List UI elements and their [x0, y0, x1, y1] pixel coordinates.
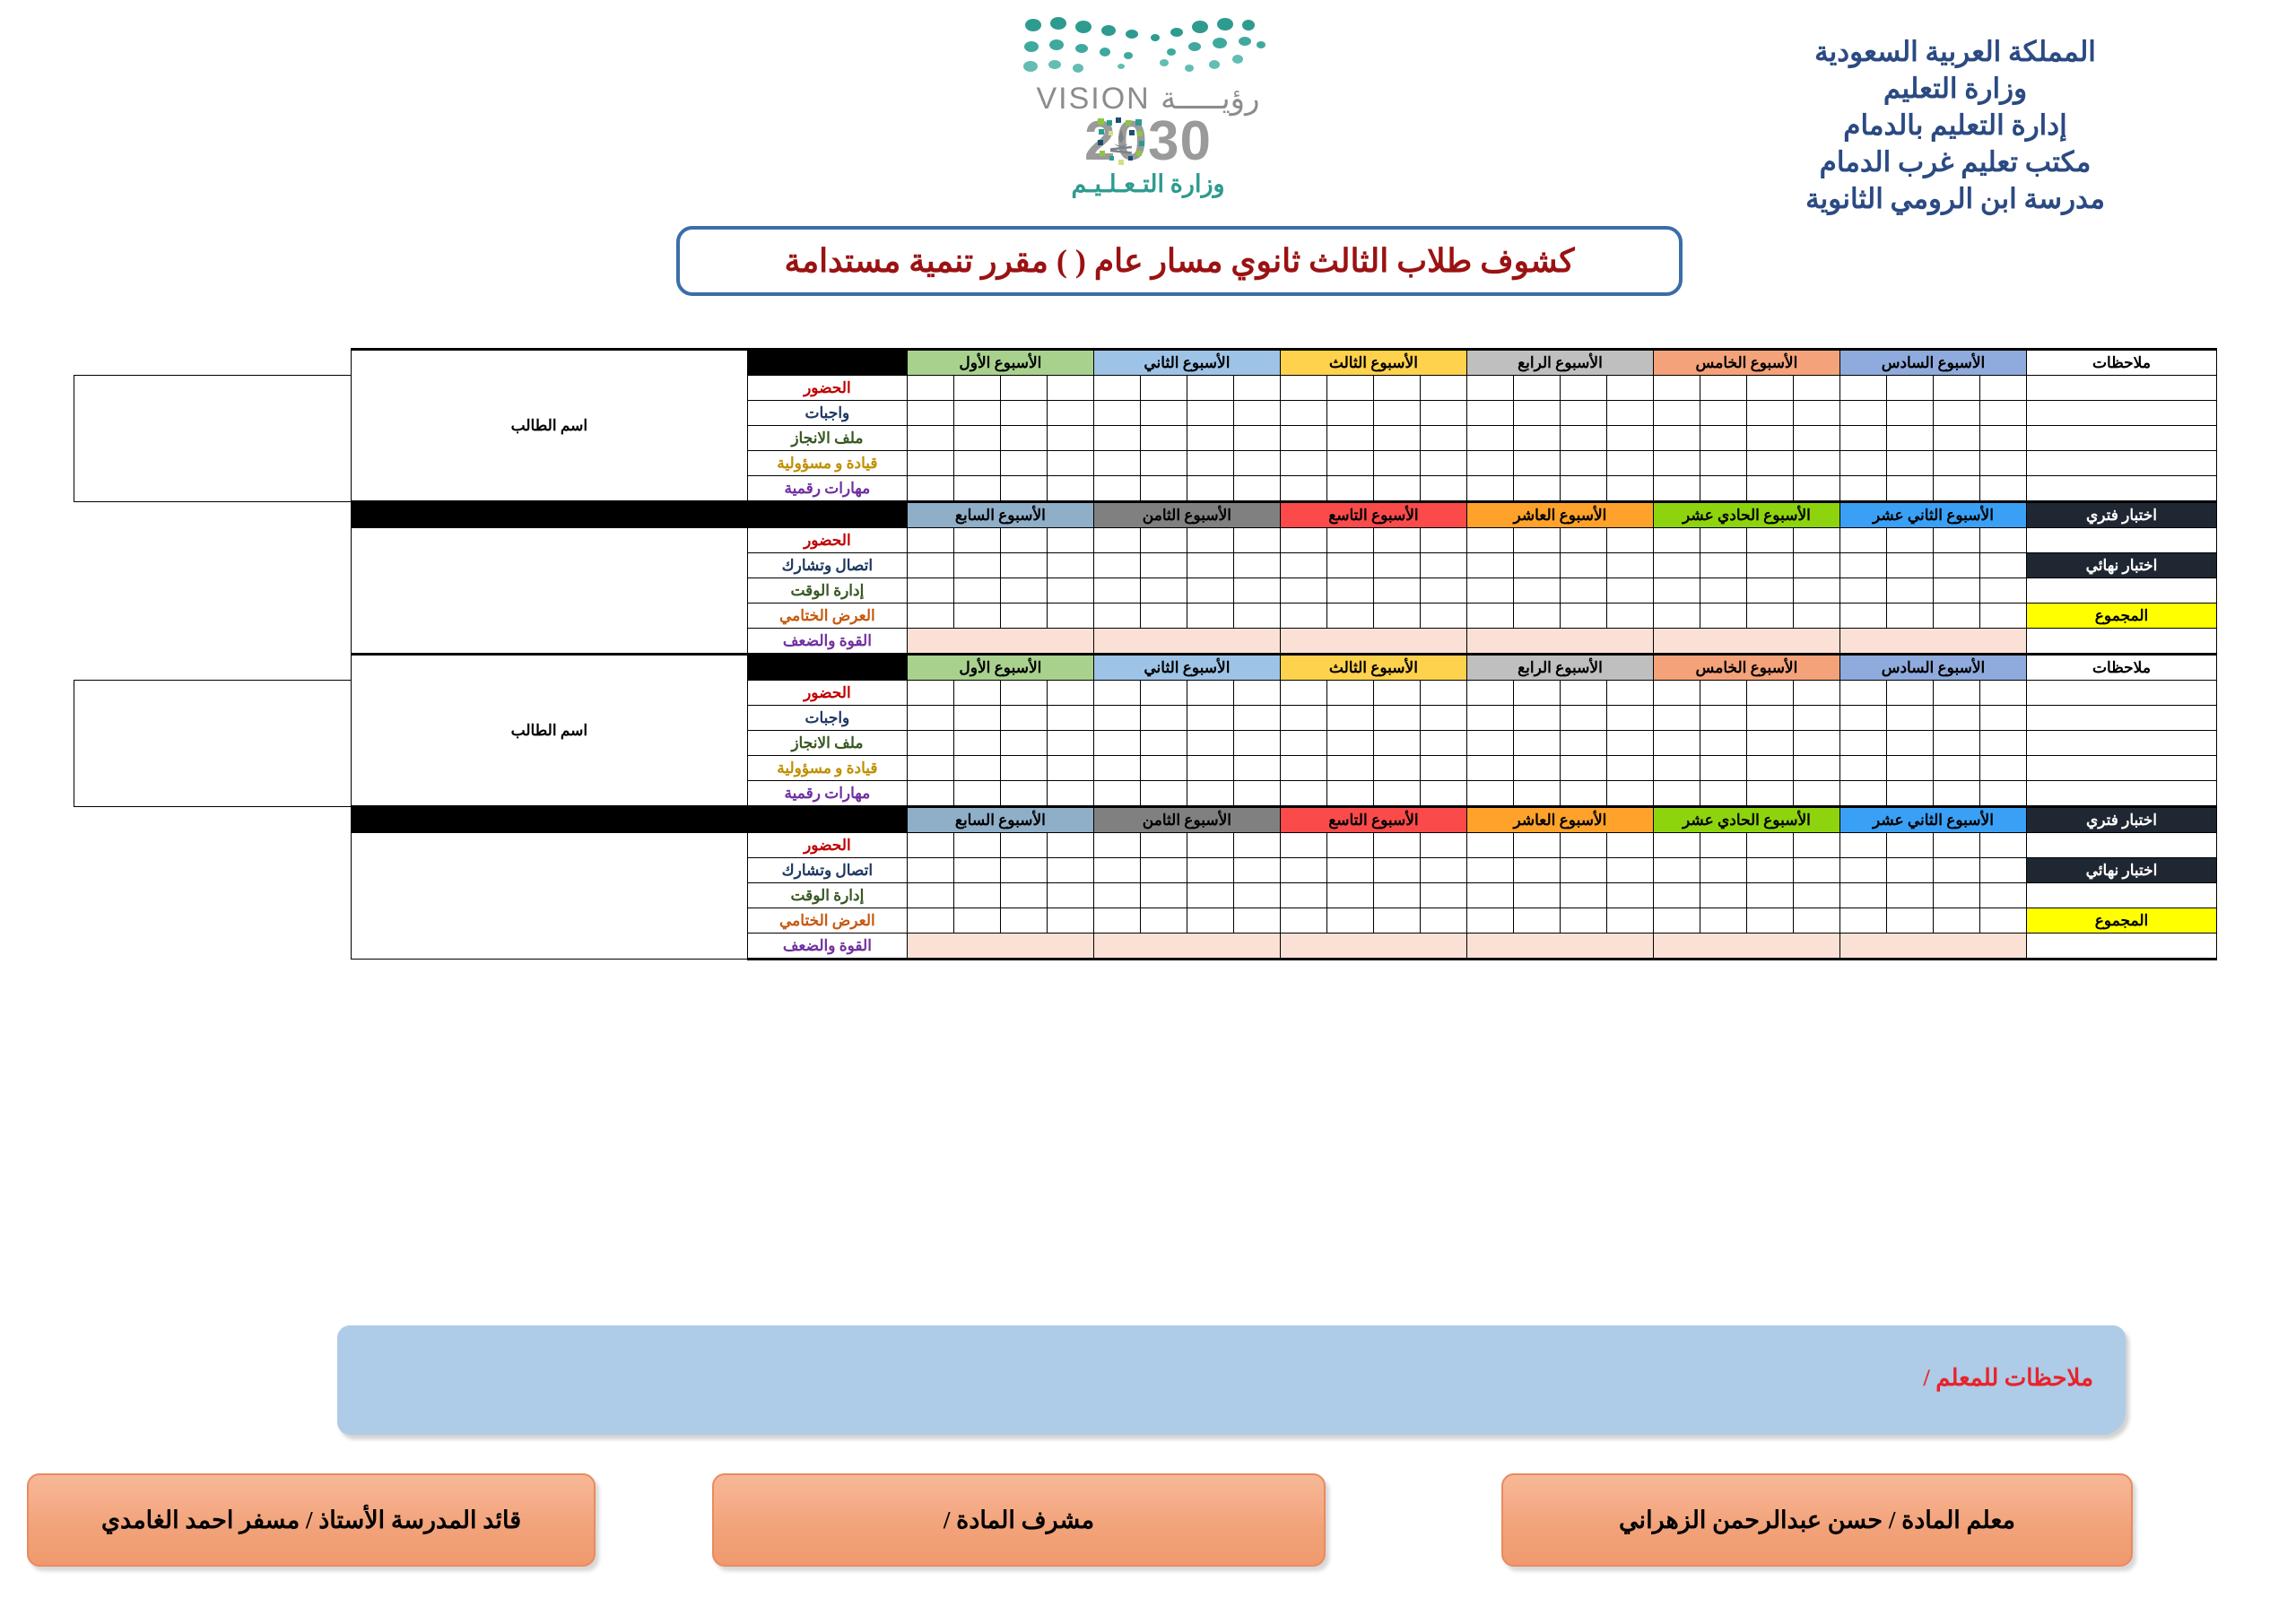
score-cell[interactable] [953, 756, 1000, 781]
score-cell[interactable] [1653, 401, 1700, 426]
score-cell[interactable] [1560, 706, 1606, 731]
score-cell[interactable] [1326, 553, 1373, 578]
score-cell[interactable] [1326, 528, 1373, 553]
score-cell[interactable] [1187, 401, 1233, 426]
score-cell[interactable] [1466, 706, 1513, 731]
score-cell[interactable] [1653, 476, 1700, 502]
score-cell[interactable] [1233, 578, 1280, 604]
score-cell[interactable] [1280, 578, 1326, 604]
score-cell[interactable] [1466, 833, 1513, 858]
score-cell[interactable] [1187, 781, 1233, 807]
score-cell[interactable] [1653, 908, 1700, 934]
score-cell[interactable] [1466, 376, 1513, 401]
score-cell[interactable] [1420, 376, 1466, 401]
score-cell[interactable] [1420, 908, 1466, 934]
score-cell[interactable] [1513, 376, 1560, 401]
score-cell[interactable] [1746, 376, 1793, 401]
score-cell[interactable] [1047, 401, 1093, 426]
score-cell[interactable] [1140, 883, 1187, 908]
score-cell[interactable] [1047, 731, 1093, 756]
score-cell[interactable] [1280, 376, 1326, 401]
score-cell[interactable] [1793, 681, 1839, 706]
score-cell[interactable] [1700, 528, 1746, 553]
score-cell[interactable] [1934, 528, 1980, 553]
score-cell[interactable] [1606, 706, 1653, 731]
score-cell[interactable] [1093, 604, 1140, 629]
score-cell[interactable] [1420, 426, 1466, 451]
score-cell[interactable] [1000, 528, 1047, 553]
score-cell[interactable] [1420, 401, 1466, 426]
score-cell[interactable] [1093, 706, 1140, 731]
score-cell[interactable] [1373, 833, 1420, 858]
score-cell[interactable] [1093, 858, 1140, 883]
score-cell[interactable] [1140, 451, 1187, 476]
score-cell[interactable] [1560, 401, 1606, 426]
score-cell[interactable] [1980, 781, 2027, 807]
score-cell[interactable] [1466, 781, 1513, 807]
score-cell[interactable] [1000, 781, 1047, 807]
score-cell[interactable] [1093, 426, 1140, 451]
score-cell[interactable] [1653, 451, 1700, 476]
score-cell[interactable] [1560, 883, 1606, 908]
score-cell[interactable] [1746, 756, 1793, 781]
score-cell[interactable] [907, 858, 953, 883]
score-cell[interactable] [1140, 578, 1187, 604]
score-cell[interactable] [1233, 858, 1280, 883]
score-cell[interactable] [1700, 756, 1746, 781]
score-cell[interactable] [907, 578, 953, 604]
score-cell[interactable] [1280, 883, 1326, 908]
student-name-cell[interactable] [74, 681, 352, 807]
score-cell[interactable] [1466, 604, 1513, 629]
score-cell[interactable] [1466, 858, 1513, 883]
score-cell[interactable] [1700, 883, 1746, 908]
score-cell[interactable] [1793, 426, 1839, 451]
score-cell[interactable] [1000, 553, 1047, 578]
notes-cell[interactable] [2027, 706, 2217, 731]
score-cell[interactable] [1280, 681, 1326, 706]
score-cell[interactable] [1000, 858, 1047, 883]
score-cell[interactable] [1746, 451, 1793, 476]
score-cell[interactable] [1513, 756, 1560, 781]
score-cell[interactable] [1653, 756, 1700, 781]
score-cell[interactable] [1887, 451, 1934, 476]
score-cell[interactable] [1793, 858, 1839, 883]
score-cell[interactable] [1513, 451, 1560, 476]
score-cell[interactable] [1047, 706, 1093, 731]
score-cell[interactable] [1093, 908, 1140, 934]
final-exam-score-cell[interactable] [2027, 578, 2217, 604]
score-cell[interactable] [1653, 883, 1700, 908]
score-cell[interactable] [1700, 604, 1746, 629]
notes-cell[interactable] [2027, 681, 2217, 706]
score-cell[interactable] [1653, 376, 1700, 401]
score-cell[interactable] [1000, 833, 1047, 858]
score-cell[interactable] [1560, 476, 1606, 502]
strength-weakness-cell[interactable] [1466, 629, 1653, 655]
score-cell[interactable] [1373, 451, 1420, 476]
score-cell[interactable] [1000, 706, 1047, 731]
score-cell[interactable] [953, 833, 1000, 858]
score-cell[interactable] [1934, 401, 1980, 426]
score-cell[interactable] [1000, 681, 1047, 706]
final-exam-score-cell[interactable] [2027, 883, 2217, 908]
score-cell[interactable] [1513, 681, 1560, 706]
score-cell[interactable] [1887, 731, 1934, 756]
score-cell[interactable] [1140, 476, 1187, 502]
score-cell[interactable] [1746, 553, 1793, 578]
score-cell[interactable] [1606, 426, 1653, 451]
score-cell[interactable] [1373, 756, 1420, 781]
score-cell[interactable] [907, 756, 953, 781]
score-cell[interactable] [1420, 451, 1466, 476]
score-cell[interactable] [1513, 858, 1560, 883]
score-cell[interactable] [1233, 528, 1280, 553]
score-cell[interactable] [1047, 451, 1093, 476]
score-cell[interactable] [1280, 731, 1326, 756]
score-cell[interactable] [1700, 401, 1746, 426]
score-cell[interactable] [1513, 476, 1560, 502]
score-cell[interactable] [1653, 731, 1700, 756]
score-cell[interactable] [1047, 376, 1093, 401]
score-cell[interactable] [1093, 781, 1140, 807]
score-cell[interactable] [1746, 706, 1793, 731]
score-cell[interactable] [1326, 476, 1373, 502]
score-cell[interactable] [1606, 451, 1653, 476]
score-cell[interactable] [907, 401, 953, 426]
score-cell[interactable] [1746, 883, 1793, 908]
score-cell[interactable] [1980, 578, 2027, 604]
score-cell[interactable] [1700, 731, 1746, 756]
score-cell[interactable] [1187, 604, 1233, 629]
score-cell[interactable] [1373, 426, 1420, 451]
score-cell[interactable] [1093, 756, 1140, 781]
score-cell[interactable] [1887, 528, 1934, 553]
score-cell[interactable] [953, 578, 1000, 604]
score-cell[interactable] [1793, 833, 1839, 858]
score-cell[interactable] [1187, 376, 1233, 401]
score-cell[interactable] [1326, 376, 1373, 401]
score-cell[interactable] [1420, 781, 1466, 807]
strength-weakness-cell[interactable] [1653, 629, 1839, 655]
score-cell[interactable] [1187, 756, 1233, 781]
score-cell[interactable] [1280, 858, 1326, 883]
score-cell[interactable] [1560, 604, 1606, 629]
score-cell[interactable] [1466, 681, 1513, 706]
score-cell[interactable] [1746, 476, 1793, 502]
strength-weakness-cell[interactable] [907, 934, 1093, 960]
score-cell[interactable] [907, 883, 953, 908]
score-cell[interactable] [1746, 781, 1793, 807]
score-cell[interactable] [1140, 908, 1187, 934]
score-cell[interactable] [1280, 528, 1326, 553]
score-cell[interactable] [1793, 553, 1839, 578]
score-cell[interactable] [1606, 731, 1653, 756]
score-cell[interactable] [1887, 756, 1934, 781]
score-cell[interactable] [1606, 833, 1653, 858]
score-cell[interactable] [1233, 604, 1280, 629]
score-cell[interactable] [907, 376, 953, 401]
score-cell[interactable] [1233, 451, 1280, 476]
score-cell[interactable] [953, 553, 1000, 578]
score-cell[interactable] [1746, 604, 1793, 629]
score-cell[interactable] [1420, 476, 1466, 502]
score-cell[interactable] [1934, 376, 1980, 401]
score-cell[interactable] [953, 604, 1000, 629]
score-cell[interactable] [1000, 426, 1047, 451]
score-cell[interactable] [1606, 858, 1653, 883]
score-cell[interactable] [1326, 858, 1373, 883]
score-cell[interactable] [1326, 604, 1373, 629]
score-cell[interactable] [1280, 706, 1326, 731]
score-cell[interactable] [1746, 528, 1793, 553]
notes-cell[interactable] [2027, 731, 2217, 756]
score-cell[interactable] [953, 858, 1000, 883]
score-cell[interactable] [1373, 681, 1420, 706]
score-cell[interactable] [1980, 681, 2027, 706]
score-cell[interactable] [1093, 376, 1140, 401]
notes-cell[interactable] [2027, 401, 2217, 426]
score-cell[interactable] [953, 528, 1000, 553]
score-cell[interactable] [1746, 401, 1793, 426]
score-cell[interactable] [1887, 604, 1934, 629]
score-cell[interactable] [1420, 706, 1466, 731]
strength-weakness-cell[interactable] [1653, 934, 1839, 960]
student-name-cell-bottom[interactable] [351, 528, 747, 655]
score-cell[interactable] [1047, 908, 1093, 934]
score-cell[interactable] [1887, 908, 1934, 934]
score-cell[interactable] [1047, 833, 1093, 858]
score-cell[interactable] [953, 883, 1000, 908]
score-cell[interactable] [953, 401, 1000, 426]
score-cell[interactable] [1187, 578, 1233, 604]
score-cell[interactable] [1980, 476, 2027, 502]
score-cell[interactable] [1934, 426, 1980, 451]
score-cell[interactable] [1233, 908, 1280, 934]
student-name-cell-bottom[interactable] [351, 833, 747, 960]
score-cell[interactable] [1420, 883, 1466, 908]
score-cell[interactable] [1934, 706, 1980, 731]
score-cell[interactable] [1373, 781, 1420, 807]
score-cell[interactable] [953, 376, 1000, 401]
score-cell[interactable] [1560, 908, 1606, 934]
score-cell[interactable] [1560, 756, 1606, 781]
notes-cell[interactable] [2027, 781, 2217, 807]
strength-weakness-cell[interactable] [1093, 629, 1280, 655]
score-cell[interactable] [953, 451, 1000, 476]
score-cell[interactable] [953, 731, 1000, 756]
score-cell[interactable] [1793, 476, 1839, 502]
score-cell[interactable] [1606, 681, 1653, 706]
score-cell[interactable] [1793, 578, 1839, 604]
score-cell[interactable] [1047, 553, 1093, 578]
score-cell[interactable] [1980, 401, 2027, 426]
score-cell[interactable] [1513, 908, 1560, 934]
score-cell[interactable] [1047, 476, 1093, 502]
score-cell[interactable] [1420, 833, 1466, 858]
score-cell[interactable] [1887, 553, 1934, 578]
strength-weakness-cell[interactable] [1839, 934, 2026, 960]
score-cell[interactable] [1000, 476, 1047, 502]
score-cell[interactable] [1606, 908, 1653, 934]
score-cell[interactable] [1887, 883, 1934, 908]
score-cell[interactable] [1793, 908, 1839, 934]
score-cell[interactable] [1140, 756, 1187, 781]
score-cell[interactable] [1700, 781, 1746, 807]
score-cell[interactable] [1047, 756, 1093, 781]
score-cell[interactable] [1373, 858, 1420, 883]
score-cell[interactable] [1093, 731, 1140, 756]
score-cell[interactable] [1093, 553, 1140, 578]
score-cell[interactable] [1233, 476, 1280, 502]
score-cell[interactable] [1326, 681, 1373, 706]
score-cell[interactable] [1466, 401, 1513, 426]
score-cell[interactable] [1420, 858, 1466, 883]
score-cell[interactable] [1513, 781, 1560, 807]
score-cell[interactable] [1653, 553, 1700, 578]
score-cell[interactable] [1000, 604, 1047, 629]
score-cell[interactable] [1233, 681, 1280, 706]
score-cell[interactable] [1513, 883, 1560, 908]
score-cell[interactable] [1187, 451, 1233, 476]
periodic-exam-score-cell[interactable] [2027, 833, 2217, 858]
strength-weakness-cell[interactable] [1280, 629, 1466, 655]
score-cell[interactable] [1093, 528, 1140, 553]
score-cell[interactable] [1839, 883, 1886, 908]
score-cell[interactable] [1466, 883, 1513, 908]
score-cell[interactable] [1793, 528, 1839, 553]
score-cell[interactable] [1839, 578, 1886, 604]
score-cell[interactable] [1700, 706, 1746, 731]
score-cell[interactable] [1093, 451, 1140, 476]
score-cell[interactable] [1839, 908, 1886, 934]
score-cell[interactable] [1980, 756, 2027, 781]
score-cell[interactable] [1093, 401, 1140, 426]
score-cell[interactable] [1187, 908, 1233, 934]
score-cell[interactable] [1000, 401, 1047, 426]
score-cell[interactable] [1980, 833, 2027, 858]
score-cell[interactable] [1326, 578, 1373, 604]
score-cell[interactable] [1839, 451, 1886, 476]
score-cell[interactable] [1746, 426, 1793, 451]
score-cell[interactable] [907, 451, 953, 476]
score-cell[interactable] [1373, 578, 1420, 604]
score-cell[interactable] [1560, 833, 1606, 858]
score-cell[interactable] [1373, 476, 1420, 502]
score-cell[interactable] [1466, 578, 1513, 604]
score-cell[interactable] [1326, 908, 1373, 934]
score-cell[interactable] [1280, 833, 1326, 858]
score-cell[interactable] [1047, 681, 1093, 706]
score-cell[interactable] [1980, 553, 2027, 578]
score-cell[interactable] [1653, 781, 1700, 807]
score-cell[interactable] [1513, 833, 1560, 858]
score-cell[interactable] [1093, 681, 1140, 706]
score-cell[interactable] [1373, 604, 1420, 629]
score-cell[interactable] [1653, 706, 1700, 731]
score-cell[interactable] [1280, 908, 1326, 934]
score-cell[interactable] [1000, 731, 1047, 756]
score-cell[interactable] [1233, 401, 1280, 426]
score-cell[interactable] [907, 528, 953, 553]
score-cell[interactable] [1466, 908, 1513, 934]
score-cell[interactable] [1047, 604, 1093, 629]
score-cell[interactable] [1047, 781, 1093, 807]
score-cell[interactable] [1934, 858, 1980, 883]
score-cell[interactable] [1513, 401, 1560, 426]
score-cell[interactable] [1187, 883, 1233, 908]
score-cell[interactable] [1887, 781, 1934, 807]
score-cell[interactable] [1793, 376, 1839, 401]
score-cell[interactable] [1700, 578, 1746, 604]
score-cell[interactable] [1373, 553, 1420, 578]
score-cell[interactable] [1606, 376, 1653, 401]
notes-cell[interactable] [2027, 426, 2217, 451]
score-cell[interactable] [1233, 756, 1280, 781]
score-cell[interactable] [1233, 706, 1280, 731]
score-cell[interactable] [907, 476, 953, 502]
score-cell[interactable] [1187, 833, 1233, 858]
score-cell[interactable] [1280, 401, 1326, 426]
score-cell[interactable] [1233, 833, 1280, 858]
score-cell[interactable] [1280, 604, 1326, 629]
teacher-notes-box[interactable]: ملاحظات للمعلم / [337, 1325, 2126, 1435]
score-cell[interactable] [1934, 731, 1980, 756]
score-cell[interactable] [1887, 858, 1934, 883]
score-cell[interactable] [1980, 858, 2027, 883]
score-cell[interactable] [1187, 858, 1233, 883]
score-cell[interactable] [1373, 883, 1420, 908]
score-cell[interactable] [953, 681, 1000, 706]
strength-weakness-cell[interactable] [1280, 934, 1466, 960]
score-cell[interactable] [1653, 578, 1700, 604]
score-cell[interactable] [1839, 681, 1886, 706]
score-cell[interactable] [1746, 578, 1793, 604]
score-cell[interactable] [1934, 476, 1980, 502]
score-cell[interactable] [1560, 451, 1606, 476]
score-cell[interactable] [1839, 858, 1886, 883]
score-cell[interactable] [1746, 731, 1793, 756]
score-cell[interactable] [1560, 426, 1606, 451]
score-cell[interactable] [1700, 451, 1746, 476]
score-cell[interactable] [1326, 833, 1373, 858]
score-cell[interactable] [1187, 706, 1233, 731]
score-cell[interactable] [907, 426, 953, 451]
score-cell[interactable] [1140, 681, 1187, 706]
score-cell[interactable] [1280, 426, 1326, 451]
score-cell[interactable] [1187, 681, 1233, 706]
score-cell[interactable] [1466, 426, 1513, 451]
score-cell[interactable] [1653, 681, 1700, 706]
score-cell[interactable] [1839, 401, 1886, 426]
score-cell[interactable] [1140, 401, 1187, 426]
score-cell[interactable] [1839, 781, 1886, 807]
score-cell[interactable] [1934, 908, 1980, 934]
score-cell[interactable] [1934, 833, 1980, 858]
score-cell[interactable] [907, 908, 953, 934]
score-cell[interactable] [1000, 908, 1047, 934]
score-cell[interactable] [1839, 476, 1886, 502]
score-cell[interactable] [1280, 781, 1326, 807]
score-cell[interactable] [1140, 706, 1187, 731]
score-cell[interactable] [1093, 476, 1140, 502]
score-cell[interactable] [1606, 578, 1653, 604]
score-cell[interactable] [1466, 553, 1513, 578]
score-cell[interactable] [1887, 578, 1934, 604]
score-cell[interactable] [1793, 781, 1839, 807]
score-cell[interactable] [1606, 401, 1653, 426]
score-cell[interactable] [1980, 731, 2027, 756]
